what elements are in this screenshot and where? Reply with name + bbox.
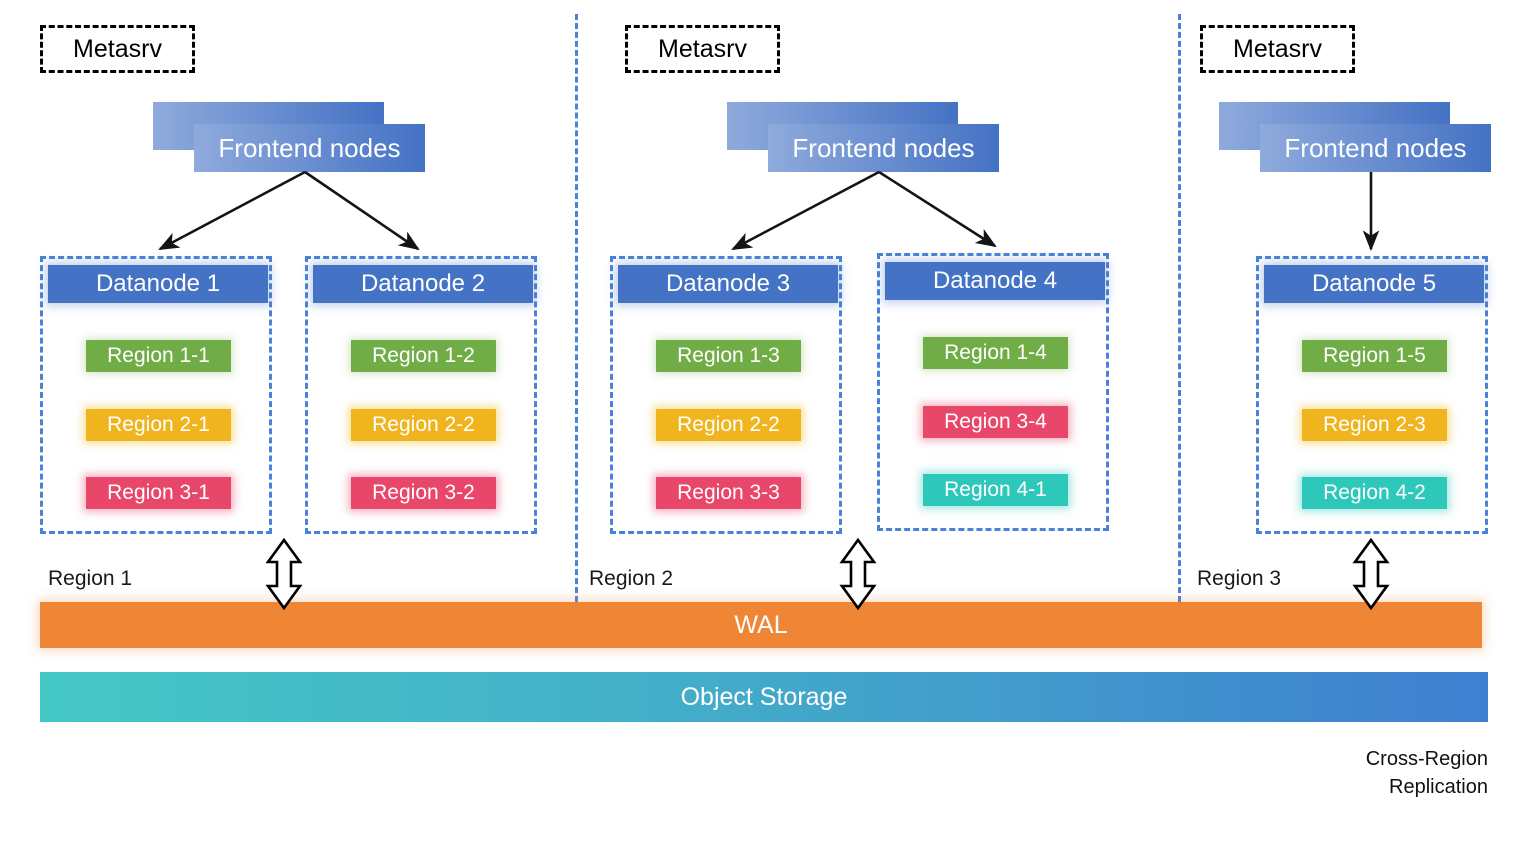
region-chip-label: Region 1-3 bbox=[677, 344, 780, 368]
region-chip-label: Region 2-1 bbox=[107, 413, 210, 437]
datanode-container-5[interactable]: Datanode 5 Region 1-5 Region 2-3 Region … bbox=[1256, 256, 1488, 534]
region-chip-label: Region 1-2 bbox=[372, 344, 475, 368]
metasrv-label: Metasrv bbox=[73, 35, 162, 64]
metasrv-label: Metasrv bbox=[1233, 35, 1322, 64]
wal-link-arrow-zone-2 bbox=[842, 540, 874, 608]
datanode-header-1: Datanode 1 bbox=[48, 265, 268, 303]
region-chip-3-4[interactable]: Region 3-4 bbox=[923, 406, 1068, 438]
region-chip-3-2[interactable]: Region 3-2 bbox=[351, 477, 496, 509]
wal-link-arrow-zone-1 bbox=[268, 540, 300, 608]
region-chip-2-2[interactable]: Region 2-2 bbox=[351, 409, 496, 441]
region-chip-2-2-dn3[interactable]: Region 2-2 bbox=[656, 409, 801, 441]
zone-divider-2 bbox=[1178, 14, 1181, 602]
datanode-name: Datanode 2 bbox=[361, 270, 485, 298]
datanode-header-5: Datanode 5 bbox=[1264, 265, 1484, 303]
zone-caption-1: Region 1 bbox=[48, 567, 132, 591]
region-chip-label: Region 3-3 bbox=[677, 481, 780, 505]
frontend-node-stack-front: Frontend nodes bbox=[1260, 124, 1491, 172]
region-chip-1-5[interactable]: Region 1-5 bbox=[1302, 340, 1447, 372]
region-chip-label: Region 2-3 bbox=[1323, 413, 1426, 437]
region-chip-label: Region 1-4 bbox=[944, 341, 1047, 365]
wal-bar[interactable]: WAL bbox=[40, 602, 1482, 648]
datanode-header-3: Datanode 3 bbox=[618, 265, 838, 303]
zone-divider-1 bbox=[575, 14, 578, 602]
architecture-diagram: Metasrv Frontend nodes Datanode 1 Region… bbox=[0, 0, 1514, 842]
datanode-container-3[interactable]: Datanode 3 Region 1-3 Region 2-2 Region … bbox=[610, 256, 842, 534]
region-chip-label: Region 1-1 bbox=[107, 344, 210, 368]
datanode-container-2[interactable]: Datanode 2 Region 1-2 Region 2-2 Region … bbox=[305, 256, 537, 534]
frontend-node-stack-front: Frontend nodes bbox=[194, 124, 425, 172]
frontend-nodes-label: Frontend nodes bbox=[1284, 133, 1466, 164]
datanode-header-2: Datanode 2 bbox=[313, 265, 533, 303]
region-chip-1-3[interactable]: Region 1-3 bbox=[656, 340, 801, 372]
region-chip-4-2[interactable]: Region 4-2 bbox=[1302, 477, 1447, 509]
frontend-nodes-label: Frontend nodes bbox=[218, 133, 400, 164]
frontend-to-datanode-arrows-zone-2 bbox=[733, 172, 995, 249]
region-chip-label: Region 1-5 bbox=[1323, 344, 1426, 368]
region-chip-label: Region 2-2 bbox=[677, 413, 780, 437]
datanode-name: Datanode 3 bbox=[666, 270, 790, 298]
datanode-name: Datanode 1 bbox=[96, 270, 220, 298]
datanode-name: Datanode 4 bbox=[933, 267, 1057, 295]
frontend-to-datanode-arrows-zone-1 bbox=[160, 172, 418, 249]
object-storage-label: Object Storage bbox=[681, 683, 848, 712]
region-chip-1-2[interactable]: Region 1-2 bbox=[351, 340, 496, 372]
region-chip-label: Region 3-4 bbox=[944, 410, 1047, 434]
region-chip-label: Region 3-1 bbox=[107, 481, 210, 505]
datanode-header-4: Datanode 4 bbox=[885, 262, 1105, 300]
frontend-node-stack-front: Frontend nodes bbox=[768, 124, 999, 172]
region-chip-label: Region 3-2 bbox=[372, 481, 475, 505]
region-chip-1-1[interactable]: Region 1-1 bbox=[86, 340, 231, 372]
metasrv-box-zone-2[interactable]: Metasrv bbox=[625, 25, 780, 73]
region-chip-2-3[interactable]: Region 2-3 bbox=[1302, 409, 1447, 441]
region-chip-3-3[interactable]: Region 3-3 bbox=[656, 477, 801, 509]
datanode-name: Datanode 5 bbox=[1312, 270, 1436, 298]
object-storage-bar[interactable]: Object Storage bbox=[40, 672, 1488, 722]
region-chip-label: Region 4-2 bbox=[1323, 481, 1426, 505]
wal-label: WAL bbox=[734, 611, 787, 640]
zone-caption-2: Region 2 bbox=[589, 567, 673, 591]
metasrv-box-zone-3[interactable]: Metasrv bbox=[1200, 25, 1355, 73]
frontend-nodes-zone-2[interactable]: Frontend nodes bbox=[727, 102, 999, 172]
region-chip-3-1[interactable]: Region 3-1 bbox=[86, 477, 231, 509]
metasrv-label: Metasrv bbox=[658, 35, 747, 64]
region-chip-label: Region 2-2 bbox=[372, 413, 475, 437]
wal-link-arrow-zone-3 bbox=[1355, 540, 1387, 608]
frontend-nodes-label: Frontend nodes bbox=[792, 133, 974, 164]
zone-caption-3: Region 3 bbox=[1197, 567, 1281, 591]
frontend-nodes-zone-3[interactable]: Frontend nodes bbox=[1219, 102, 1491, 172]
frontend-nodes-zone-1[interactable]: Frontend nodes bbox=[153, 102, 425, 172]
region-chip-1-4[interactable]: Region 1-4 bbox=[923, 337, 1068, 369]
metasrv-box-zone-1[interactable]: Metasrv bbox=[40, 25, 195, 73]
datanode-container-4[interactable]: Datanode 4 Region 1-4 Region 3-4 Region … bbox=[877, 253, 1109, 531]
cross-region-replication-caption: Cross-Region Replication bbox=[1200, 745, 1488, 801]
region-chip-4-1[interactable]: Region 4-1 bbox=[923, 474, 1068, 506]
region-chip-label: Region 4-1 bbox=[944, 478, 1047, 502]
datanode-container-1[interactable]: Datanode 1 Region 1-1 Region 2-1 Region … bbox=[40, 256, 272, 534]
region-chip-2-1[interactable]: Region 2-1 bbox=[86, 409, 231, 441]
